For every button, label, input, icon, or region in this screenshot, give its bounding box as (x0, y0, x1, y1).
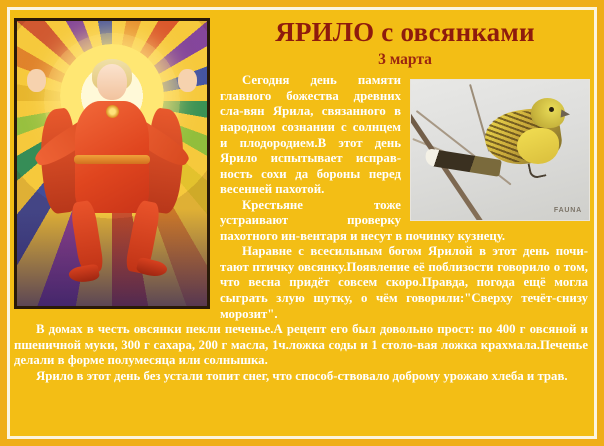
yarilo-figure (17, 21, 207, 306)
head (97, 64, 127, 100)
hand-right (178, 69, 197, 92)
bird-head (531, 98, 565, 128)
yarilo-painting (14, 18, 210, 309)
brooch-icon (106, 105, 119, 118)
bird-beak (561, 110, 571, 119)
boot-right (136, 257, 169, 280)
poster-content: ЯРИЛО с овсянками 3 марта FAUNA Сегодня … (14, 14, 590, 432)
hand-left (27, 69, 46, 92)
poster-canvas: ЯРИЛО с овсянками 3 марта FAUNA Сегодня … (0, 0, 604, 446)
painting-canvas (17, 21, 207, 306)
yellowhammer-photo: FAUNA (410, 79, 590, 221)
paragraph-5: Ярило в этот день без устали топит снег,… (14, 369, 588, 385)
photo-watermark: FAUNA (554, 207, 582, 214)
paragraph-4: В домах в честь овсянки пекли печенье.А … (14, 322, 588, 369)
belt (74, 155, 150, 164)
boot-left (68, 264, 100, 285)
